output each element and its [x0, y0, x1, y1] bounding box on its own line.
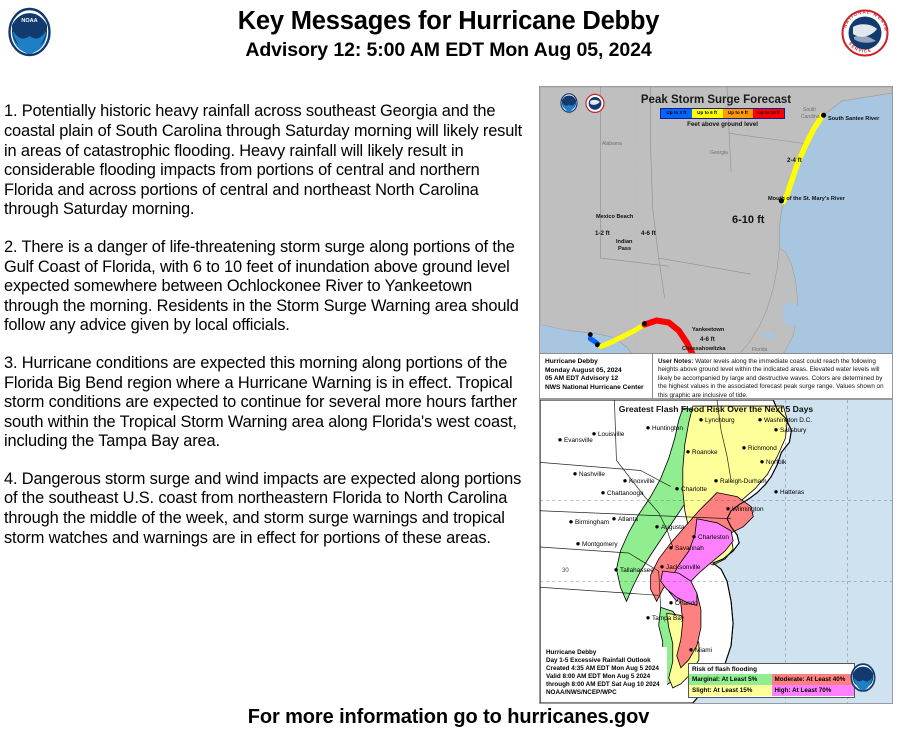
surge-legend-caption: Feet above ground level: [660, 121, 785, 128]
surge-legend-segment-1: Up to 6 ft: [692, 109, 723, 118]
nws-logo: NATIONAL WEATHER SERVICE: [840, 7, 890, 62]
svg-text:NOAA: NOAA: [21, 18, 37, 24]
key-message-3: 3. Hurricane conditions are expected thi…: [4, 354, 524, 452]
key-message-4: 4. Dangerous storm surge and wind impact…: [4, 470, 524, 548]
flood-caption-line-2: Created 4:35 AM EDT Mon Aug 5 2024: [546, 665, 665, 673]
flood-legend-item-moderate: Moderate: At Least 40%: [772, 674, 855, 685]
flood-map-caption: Hurricane Debby Day 1-5 Excessive Rainfa…: [543, 647, 667, 699]
title-block: Key Messages for Hurricane Debby Advisor…: [70, 6, 827, 63]
flash-flood-risk-map[interactable]: Greatest Flash Flood Risk Over the Next …: [539, 399, 893, 704]
peak-storm-surge-forecast-map[interactable]: Peak Storm Surge Forecast Up to 3 ft Up …: [539, 86, 893, 399]
user-notes-label: User Notes:: [658, 358, 693, 365]
flood-legend-item-marginal: Marginal: At Least 5%: [689, 674, 772, 685]
surge-map-legend: Up to 3 ft Up to 6 ft Up to 9 ft Up to 1…: [660, 108, 785, 128]
surge-legend-segment-0: Up to 3 ft: [661, 109, 692, 118]
footer: For more information go to hurricanes.go…: [0, 706, 897, 729]
key-message-1: 1. Potentially historic heavy rainfall a…: [4, 102, 524, 220]
noaa-logo: NOAA: [6, 7, 53, 62]
flood-caption-line-3: Valid 8:00 AM EDT Mon Aug 5 2024: [546, 673, 665, 681]
surge-map-caption: Hurricane Debby Monday August 05, 2024 0…: [540, 353, 892, 398]
flood-caption-line-0: Hurricane Debby: [546, 649, 665, 657]
surge-map-title: Peak Storm Surge Forecast: [540, 94, 892, 106]
surge-caption-source: Hurricane Debby Monday August 05, 2024 0…: [540, 354, 653, 398]
surge-caption-line-1: Monday August 05, 2024: [545, 367, 652, 376]
surge-legend-segment-2: Up to 9 ft: [723, 109, 754, 118]
flood-legend-item-high: High: At Least 70%: [772, 685, 855, 696]
surge-caption-line-3: NWS National Hurricane Center: [545, 384, 652, 393]
noaa-logo-flood-map: [848, 663, 878, 695]
flood-legend-row-0: Marginal: At Least 5% Moderate: At Least…: [689, 674, 854, 685]
page-subtitle: Advisory 12: 5:00 AM EDT Mon Aug 05, 202…: [70, 37, 827, 63]
surge-caption-line-2: 05 AM EDT Advisory 12: [545, 375, 652, 384]
flood-legend-title: Risk of flash flooding: [689, 665, 854, 674]
surge-caption-line-0: Hurricane Debby: [545, 358, 652, 367]
flood-legend-item-slight: Slight: At Least 15%: [689, 685, 772, 696]
flood-map-title: Greatest Flash Flood Risk Over the Next …: [540, 404, 892, 414]
key-message-2: 2. There is a danger of life-threatening…: [4, 238, 524, 336]
surge-legend-segment-3: Up to 10 ft: [753, 109, 784, 118]
flood-caption-line-4: through 8:00 AM EDT Sat Aug 10 2024: [546, 681, 665, 689]
surge-legend-bar: Up to 3 ft Up to 6 ft Up to 9 ft Up to 1…: [660, 108, 785, 119]
surge-map-canvas: [540, 87, 892, 398]
flood-legend-row-1: Slight: At Least 15% High: At Least 70%: [689, 685, 854, 696]
key-messages-list: 1. Potentially historic heavy rainfall a…: [4, 86, 524, 566]
page-title: Key Messages for Hurricane Debby: [70, 6, 827, 37]
page-header: NOAA Key Messages for Hurricane Debby Ad…: [0, 0, 897, 74]
flood-caption-line-5: NOAA/NWS/NCEP/WPC: [546, 689, 665, 697]
flood-map-legend: Risk of flash flooding Marginal: At Leas…: [688, 663, 855, 698]
flood-caption-line-1: Day 1-5 Excessive Rainfall Outlook: [546, 657, 665, 665]
surge-caption-user-notes: User Notes: Water levels along the immed…: [653, 354, 892, 398]
